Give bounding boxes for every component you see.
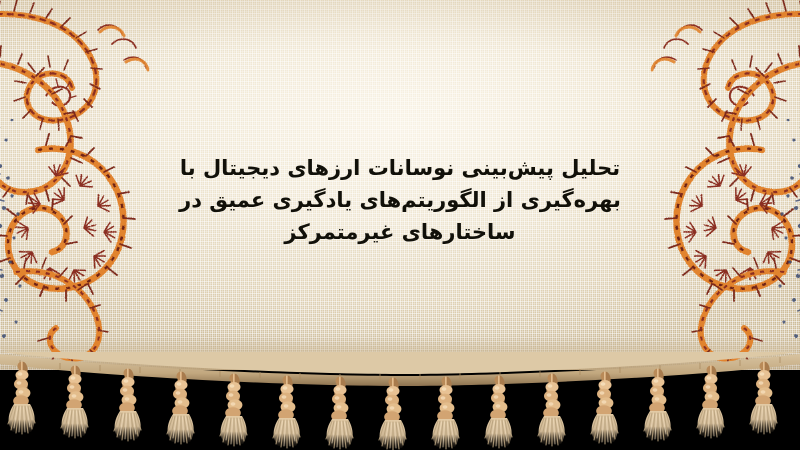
title-line-1: تحلیل پیش‌بینی نوسانات ارزهای دیجیتال با xyxy=(165,152,635,184)
title-line-3: ساختارهای غیرمتمرکز xyxy=(165,216,635,248)
title-line-2: بهره‌گیری از الگوریتم‌های یادگیری عمیق د… xyxy=(165,184,635,216)
page-title: تحلیل پیش‌بینی نوسانات ارزهای دیجیتال با… xyxy=(165,152,635,248)
title-card-canvas: تحلیل پیش‌بینی نوسانات ارزهای دیجیتال با… xyxy=(0,0,800,450)
black-backdrop xyxy=(0,370,800,450)
